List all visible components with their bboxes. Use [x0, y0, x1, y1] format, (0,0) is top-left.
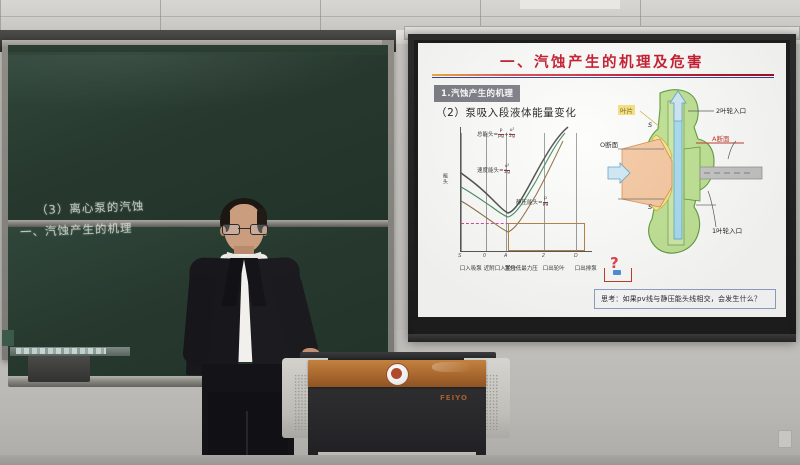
- chart-tick-2: A: [504, 253, 507, 259]
- chart-tick-0: S: [458, 253, 461, 259]
- tray-storage-box: [28, 356, 90, 382]
- chart-annotation-total-head: 总能头=pρg+u²2g: [477, 129, 515, 140]
- chart-tick-3: 2: [542, 253, 545, 259]
- slide-question-text: 思考：如果pv线与静压能头线相交，会发生什么？: [601, 294, 761, 304]
- pump-label-blade: 叶片: [618, 105, 635, 115]
- pump-label-point-s-bottom: S: [648, 203, 652, 211]
- pump-label-impeller-inlet-2: 2叶轮入口: [716, 105, 746, 115]
- question-box-fill: [613, 270, 621, 275]
- lens-right: [250, 224, 268, 235]
- pump-label-section-o: O断面: [600, 139, 618, 149]
- slide-section-badge: 1.汽蚀产生的机理: [434, 85, 520, 102]
- glasses-bridge: [238, 228, 250, 229]
- eyeglasses-icon: [222, 224, 266, 233]
- lectern-wood-highlight: [432, 362, 472, 372]
- projection-screen-bottom-bar: [408, 334, 796, 342]
- slide-title-rule: [432, 74, 774, 76]
- wall-outlet: [778, 430, 792, 448]
- pump-label-section-a: A断面: [712, 133, 729, 143]
- pump-label-impeller-inlet-1: 1叶轮入口: [712, 225, 742, 235]
- blackboard-sheen: [8, 52, 388, 112]
- lectern: FEIYO: [282, 352, 510, 465]
- floor-line: [0, 455, 800, 465]
- chart-annotation-velocity-head: 速度能头=u²2g: [477, 165, 510, 176]
- chart-category-label-0: 泵吸入口: [458, 265, 480, 271]
- chart-annotation-static-head: 静压能头=pρg: [516, 197, 548, 208]
- lens-left: [222, 224, 240, 235]
- question-mark-icon: ?: [604, 255, 632, 283]
- chart-tick-1: 0: [483, 253, 486, 259]
- lectern-brand-label: FEIYO: [440, 394, 468, 402]
- chart-delta-box: [508, 223, 585, 251]
- slide-title-rule-secondary: [432, 77, 774, 78]
- energy-variation-chart: 能头 总能头=pρg+u²2g 速度能头=u²2g: [444, 125, 594, 253]
- pump-label-point-s-top: S: [648, 121, 652, 129]
- chart-category-label-4: 泵排出口: [573, 265, 595, 271]
- university-crest-center: [391, 368, 402, 379]
- screenshot-root: （3）离心泵的汽蚀 一、汽蚀产生的机理 一、汽蚀产生的机理及危害 1.汽蚀产生的…: [0, 0, 800, 465]
- slide-subheading: （2）泵吸入段液体能量变化: [436, 105, 576, 120]
- chart-category-label-2: 压力最低位置: [503, 265, 536, 271]
- projected-slide: 一、汽蚀产生的机理及危害 1.汽蚀产生的机理 （2）泵吸入段液体能量变化 能头: [418, 43, 786, 317]
- chalk-pieces: [16, 348, 106, 354]
- pump-cross-section-diagram: 叶片 2叶轮入口 1叶轮入口 O断面 A断面 S S: [604, 87, 776, 263]
- blackboard-side-clip: [2, 330, 14, 346]
- chart-category-label-3: 叶轮出口: [541, 265, 563, 271]
- ceiling-light-panel: [520, 0, 620, 9]
- slide-question-bar: 思考：如果pv线与静压能头线相交，会发生什么？: [594, 289, 776, 309]
- chart-tick-4: D: [574, 253, 578, 259]
- slide-title: 一、汽蚀产生的机理及危害: [418, 51, 786, 72]
